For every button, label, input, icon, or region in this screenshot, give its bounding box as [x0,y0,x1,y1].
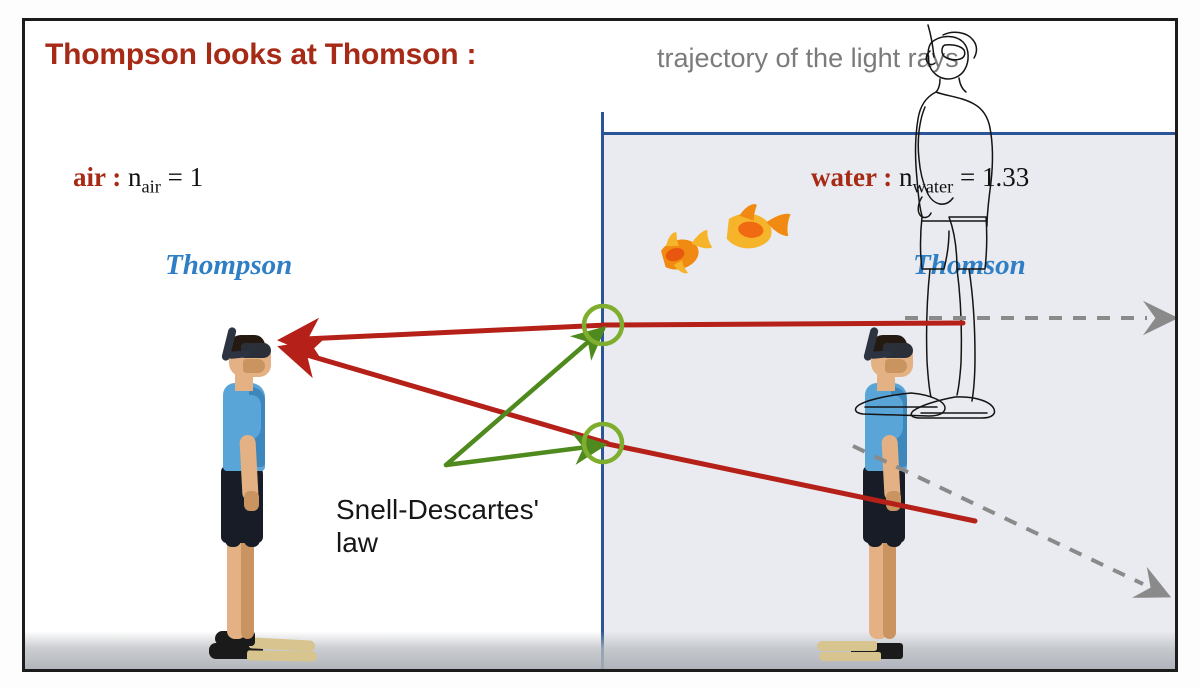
green-arrow-to-upper-point [446,329,603,465]
dashed-extension-lower [853,446,1143,584]
light-rays-red [283,323,975,521]
snell-law-arrows [446,329,603,465]
fish-icon [726,202,791,253]
ray-lower-in-water [603,443,975,521]
virtual-ray-extensions [853,318,1147,584]
ray-upper-in-water [603,323,963,325]
fish-icon [657,223,717,278]
ray-upper-in-air [283,325,607,340]
ray-lower-in-air [283,348,607,443]
diagram-canvas: Thompson looks at Thomson : trajectory o… [0,0,1200,687]
green-arrow-to-lower-point [446,445,603,465]
scanned-slide-frame: Thompson looks at Thomson : trajectory o… [22,18,1178,672]
virtual-image-outline [856,25,995,418]
optics-overlay [25,21,1178,672]
fish-group [657,202,791,279]
